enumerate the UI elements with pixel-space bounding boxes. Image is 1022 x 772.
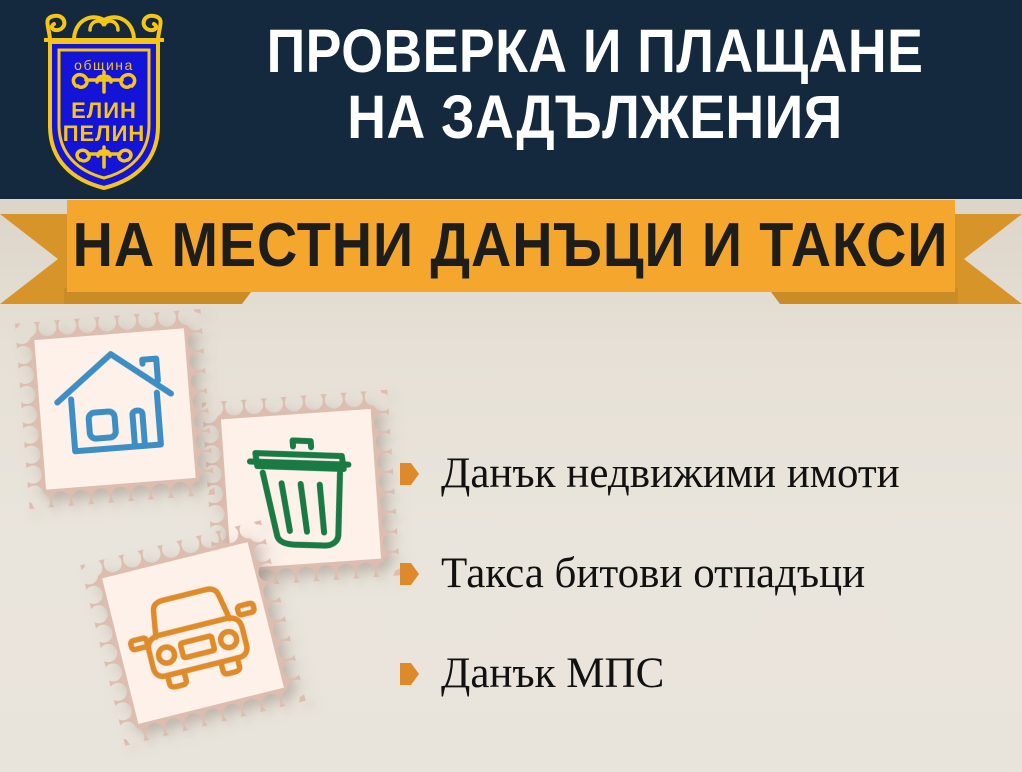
page-title-line-1: ПРОВЕРКА И ПЛАЩАНЕ xyxy=(267,17,924,85)
list-item-label: Данък МПС xyxy=(441,651,664,697)
arrow-bullet-icon xyxy=(400,463,419,485)
coat-of-arms-icon: община ЕЛИН ПЕЛИН xyxy=(28,8,180,194)
municipality-logo: община ЕЛИН ПЕЛИН xyxy=(28,8,180,194)
list-item-label: Такса битови отпадъци xyxy=(441,551,865,597)
ribbon-body: НА МЕСТНИ ДАНЪЦИ И ТАКСИ xyxy=(67,200,955,292)
tax-type-list: Данък недвижими имоти Такса битови отпад… xyxy=(400,424,1010,724)
arrow-bullet-icon xyxy=(400,663,419,685)
list-item[interactable]: Данък МПС xyxy=(400,624,1010,724)
page-title-line-2: НА ЗАДЪЛЖЕНИЯ xyxy=(234,84,956,150)
house-stamp-svg xyxy=(15,309,215,509)
ribbon-banner: НА МЕСТНИ ДАНЪЦИ И ТАКСИ xyxy=(0,196,1022,308)
list-item[interactable]: Данък недвижими имоти xyxy=(400,424,1010,524)
list-item[interactable]: Такса битови отпадъци xyxy=(400,524,1010,624)
logo-main-text-1: ЕЛИН xyxy=(71,98,137,123)
page-title: ПРОВЕРКА И ПЛАЩАНЕ НА ЗАДЪЛЖЕНИЯ xyxy=(234,18,956,150)
stamp-card-house xyxy=(15,309,215,509)
list-item-label: Данък недвижими имоти xyxy=(441,451,900,497)
logo-main-text-2: ПЕЛИН xyxy=(63,121,146,146)
arrow-bullet-icon xyxy=(400,563,419,585)
poster-canvas: ПРОВЕРКА И ПЛАЩАНЕ НА ЗАДЪЛЖЕНИЯ община xyxy=(0,0,1022,772)
ribbon-label: НА МЕСТНИ ДАНЪЦИ И ТАКСИ xyxy=(73,215,949,277)
